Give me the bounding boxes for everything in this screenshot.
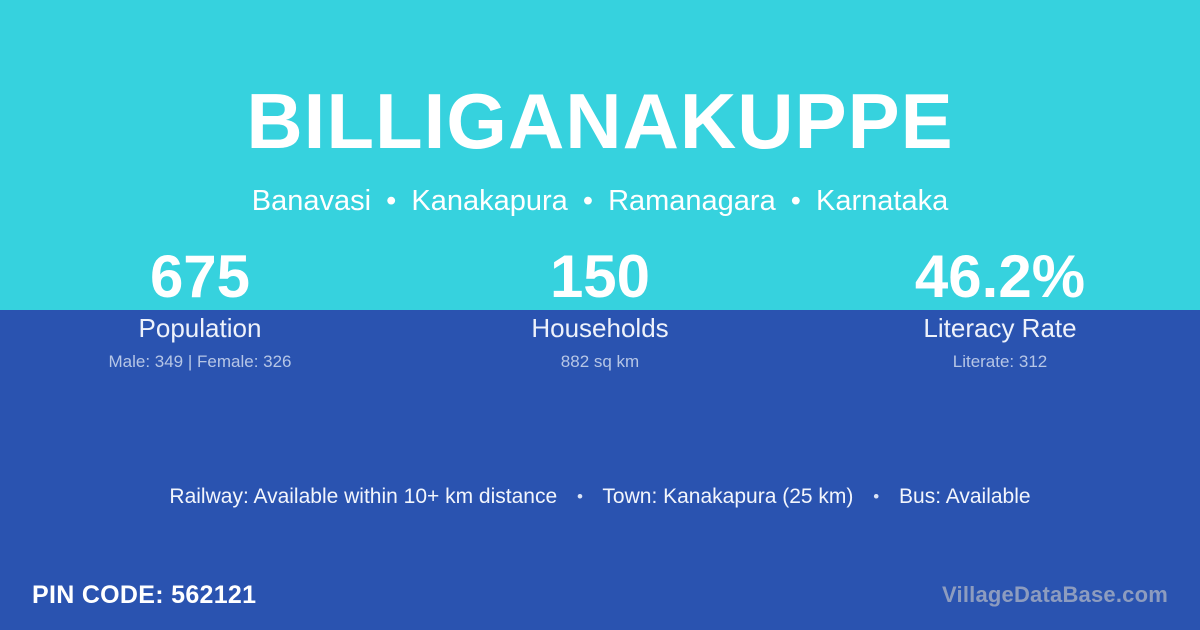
stat-households-value: 150	[400, 246, 800, 308]
pin-code: PIN CODE: 562121	[32, 582, 256, 609]
stat-households-label: Households	[400, 314, 800, 342]
breadcrumb-separator-icon: •	[379, 185, 403, 217]
facility-town: Town: Kanakapura (25 km)	[602, 485, 853, 508]
stat-population: 675 Population Male: 349 | Female: 326	[0, 246, 400, 371]
stat-households: 150 Households 882 sq km	[400, 246, 800, 371]
page-title: BILLIGANAKUPPE	[0, 0, 1200, 160]
stat-literacy: 46.2% Literacy Rate Literate: 312	[800, 246, 1200, 371]
breadcrumb-separator-icon: •	[576, 185, 600, 217]
stat-literacy-count: Literate: 312	[800, 352, 1200, 371]
breadcrumb-item-taluk: Kanakapura	[411, 185, 567, 217]
breadcrumb: Banavasi • Kanakapura • Ramanagara • Kar…	[0, 160, 1200, 216]
site-brand: VillageDataBase.com	[942, 583, 1168, 607]
breadcrumb-item-district: Ramanagara	[608, 185, 776, 217]
facility-separator-icon: •	[563, 483, 597, 511]
facility-bus: Bus: Available	[899, 485, 1031, 508]
village-info-card: BILLIGANAKUPPE Banavasi • Kanakapura • R…	[0, 0, 1200, 630]
stat-population-label: Population	[0, 314, 400, 342]
stat-literacy-label: Literacy Rate	[800, 314, 1200, 342]
stats-row: 675 Population Male: 349 | Female: 326 1…	[0, 246, 1200, 371]
breadcrumb-separator-icon: •	[784, 185, 808, 217]
card-header: BILLIGANAKUPPE Banavasi • Kanakapura • R…	[0, 0, 1200, 216]
stat-households-area: 882 sq km	[400, 352, 800, 371]
stat-population-breakdown: Male: 349 | Female: 326	[0, 352, 400, 371]
breadcrumb-item-panchayat: Banavasi	[252, 185, 371, 217]
facility-railway: Railway: Available within 10+ km distanc…	[169, 485, 557, 508]
breadcrumb-item-state: Karnataka	[816, 185, 948, 217]
facilities-line: Railway: Available within 10+ km distanc…	[0, 483, 1200, 511]
stat-literacy-value: 46.2%	[800, 246, 1200, 308]
card-footer: PIN CODE: 562121 VillageDataBase.com	[0, 560, 1200, 630]
facility-separator-icon: •	[859, 483, 893, 511]
stat-population-value: 675	[0, 246, 400, 308]
